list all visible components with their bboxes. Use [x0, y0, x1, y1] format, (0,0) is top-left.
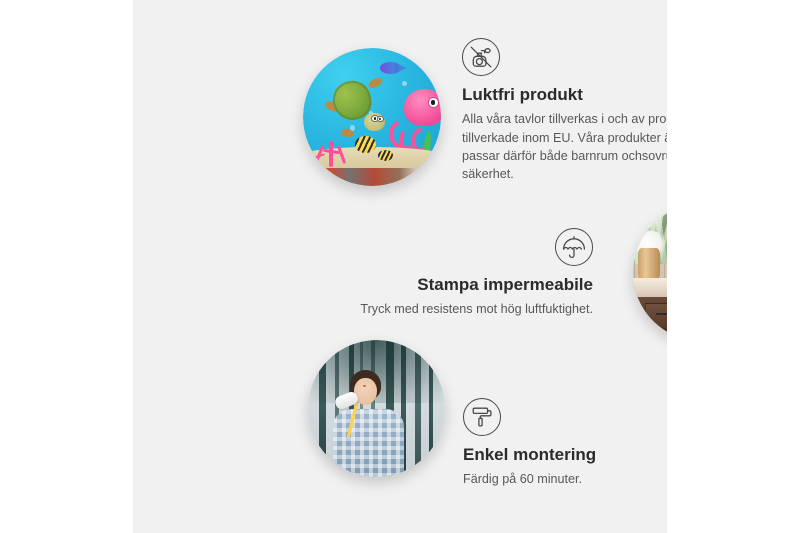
page-root: Luktfri produkt Alla våra tavlor tillver… [0, 0, 800, 533]
feature-odourless: Luktfri produkt Alla våra tavlor tillver… [462, 38, 667, 183]
feature-waterproof: Stampa impermeabile Tryck med resistens … [348, 228, 593, 319]
octopus-head [404, 89, 441, 126]
turtle-fin [367, 77, 384, 91]
no-odour-spray-bottle-icon [462, 38, 500, 76]
drawer-handle [656, 313, 667, 315]
cabinet-drawer [645, 303, 668, 328]
product-image-forest[interactable] [308, 340, 445, 477]
bathroom-scene [633, 204, 667, 341]
feature-title: Luktfri produkt [462, 85, 667, 105]
fish-yellow-icon [378, 150, 393, 161]
feature-title: Enkel montering [463, 445, 667, 465]
feature-easyinstall: Enkel montering Färdig på 60 minuter. [463, 398, 667, 489]
octopus-eye [428, 97, 439, 108]
octopus-icon [386, 89, 441, 152]
smile [363, 384, 366, 387]
feature-description: Färdig på 60 minuter. [463, 470, 667, 488]
feature-description: Tryck med resistens mot hög luftfuktighe… [348, 300, 593, 318]
umbrella-icon [555, 228, 593, 266]
forest-scene [308, 340, 445, 477]
turtle-head [364, 113, 385, 132]
product-image-sea[interactable] [303, 48, 441, 186]
paint-roller-icon [463, 398, 501, 436]
scene-foreground-strip [303, 168, 441, 186]
vanity-cabinet [633, 297, 667, 341]
feature-description: Alla våra tavlor tillverkas i och av pro… [462, 110, 667, 183]
fish-yellow-icon [355, 136, 376, 153]
content-panel: Luktfri produkt Alla våra tavlor tillver… [133, 0, 667, 533]
coral-icon [311, 125, 352, 166]
woman-with-paint-roller [330, 370, 407, 477]
fish-blue-icon [380, 62, 401, 74]
sea-scene [303, 48, 441, 186]
product-image-bathroom[interactable] [633, 204, 667, 341]
plaid-shirt [333, 409, 404, 477]
turtle-eye [377, 116, 384, 123]
feature-title: Stampa impermeabile [348, 275, 593, 295]
